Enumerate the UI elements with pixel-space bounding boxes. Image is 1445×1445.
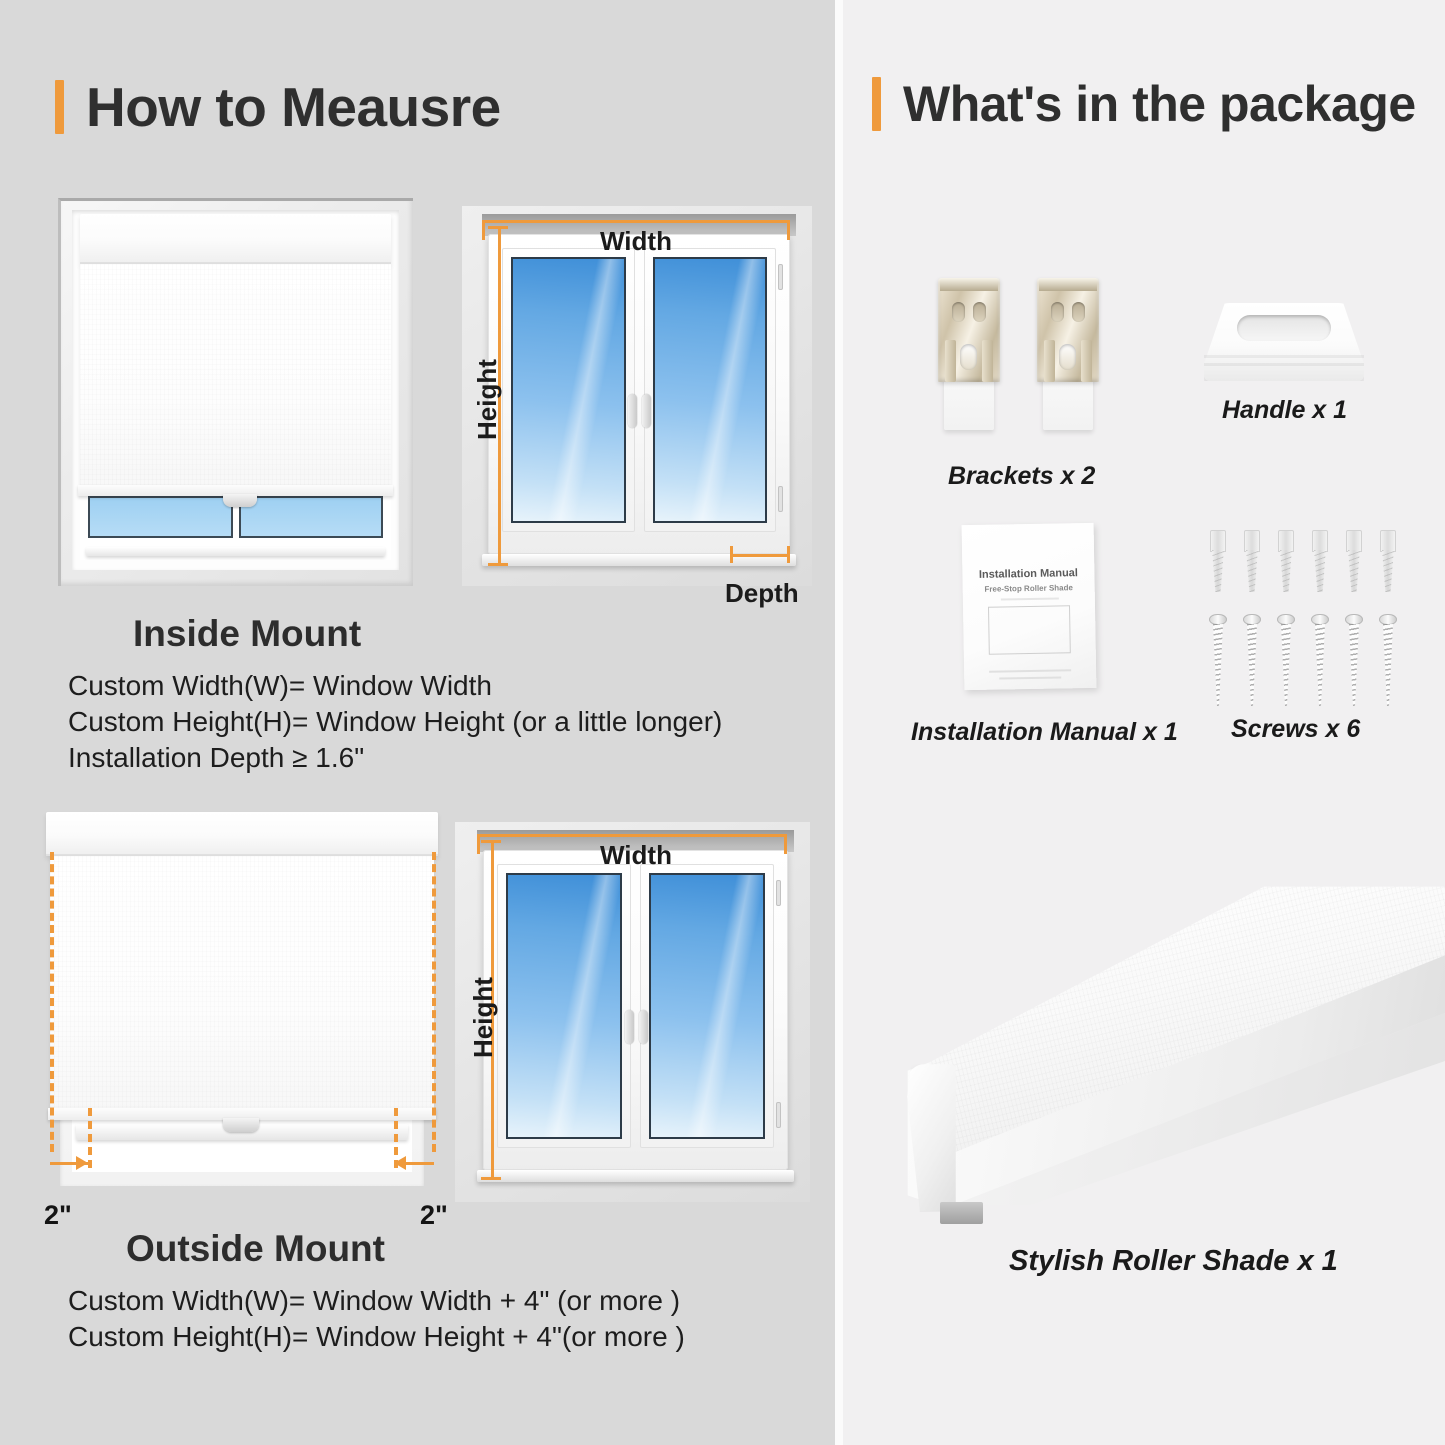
window-frame [488, 234, 790, 554]
anchor-body [1280, 550, 1292, 592]
screw-shaft [1383, 624, 1393, 706]
bracket-bar-left [1044, 340, 1055, 382]
window-edge-guide-left [88, 1108, 92, 1168]
glass-glare [539, 257, 625, 523]
manual-cover-diagram [988, 605, 1071, 654]
window-sash-right [640, 864, 774, 1148]
inside-mount-shade-illustration [58, 198, 413, 586]
anchor-head [1346, 530, 1362, 552]
roller-shade-label: Stylish Roller Shade x 1 [1009, 1245, 1338, 1278]
depth-measure-cap-right [787, 546, 790, 563]
installation-manual-item: Installation Manual Free-Stop Roller Sha… [962, 523, 1097, 690]
screws-label: Screws x 6 [1231, 715, 1360, 744]
bracket-bar-left [945, 340, 956, 382]
bracket-slot-b [973, 302, 986, 322]
anchor-head [1278, 530, 1294, 552]
shade-pull-handle[interactable] [223, 1118, 259, 1132]
window-glass-left [511, 257, 626, 523]
roller-shade-product [905, 885, 1445, 1205]
screw-head [1243, 614, 1261, 625]
width-measure-cap-right [787, 220, 790, 240]
overhang-label-right: 2" [420, 1200, 448, 1231]
glass-glare [678, 873, 765, 1139]
screw-shaft [1213, 624, 1223, 706]
width-label-inside: Width [600, 226, 672, 257]
handle-ridge-1 [1204, 355, 1364, 358]
anchor-body [1382, 550, 1394, 592]
shade-fabric [80, 264, 391, 490]
overhang-guide-right [432, 852, 436, 1152]
accent-bar-icon [872, 77, 881, 131]
window-pane-left [88, 496, 233, 538]
outside-mount-measure-diagram [455, 822, 810, 1202]
overhang-guide-left [50, 852, 54, 1152]
anchor-body [1348, 550, 1360, 592]
window-glass-right [649, 873, 765, 1139]
width-measure-cap-left [482, 220, 485, 240]
width-label-outside: Width [600, 840, 672, 871]
handle-item [1204, 303, 1364, 381]
inside-spec-depth: Installation Depth ≥ 1.6" [68, 742, 364, 774]
screw-head [1311, 614, 1329, 625]
wall-anchor-6 [1378, 530, 1398, 592]
outside-spec-width: Custom Width(W)= Window Width + 4" (or m… [68, 1285, 680, 1317]
depth-measure-cap-left [730, 546, 733, 563]
window-sill [86, 547, 385, 556]
manual-rule-2 [989, 669, 1071, 672]
glass-glare [681, 257, 767, 523]
window-pane-right [239, 496, 384, 538]
window-sash-right [644, 248, 777, 532]
outside-mount-shade-illustration [38, 812, 446, 1194]
whats-in-package-heading: What's in the package [872, 75, 1416, 133]
height-measure-cap-bottom [488, 563, 508, 566]
screw-head [1209, 614, 1227, 625]
anchor-body [1212, 550, 1224, 592]
glass-glare [535, 873, 622, 1139]
width-measure-line [482, 220, 790, 223]
inside-spec-height: Custom Height(H)= Window Height (or a li… [68, 706, 722, 738]
wall-anchor-4 [1310, 530, 1330, 592]
width-measure-line [477, 834, 787, 837]
window-hinge-top [776, 880, 781, 906]
width-measure-cap-right [784, 834, 787, 854]
handle-ridge-2 [1204, 363, 1364, 366]
wall-anchor-5 [1344, 530, 1364, 592]
bracket-screw-hole [1059, 344, 1076, 370]
bracket-lip [940, 278, 998, 291]
bracket-slot-a [1051, 302, 1064, 322]
wall-anchor-2 [1242, 530, 1262, 592]
bracket-screw-hole [960, 344, 977, 370]
shade-cassette [80, 214, 391, 264]
shade-pull-handle[interactable] [223, 494, 257, 507]
bracket-slot-a [952, 302, 965, 322]
screw-head [1345, 614, 1363, 625]
screw-6 [1379, 614, 1397, 706]
manual-rule-1 [1001, 597, 1059, 600]
anchor-head [1380, 530, 1396, 552]
outside-mount-title: Outside Mount [126, 1228, 385, 1270]
inside-spec-width: Custom Width(W)= Window Width [68, 670, 492, 702]
anchor-head [1210, 530, 1226, 552]
handle-grip-slot [1237, 315, 1331, 341]
window-sash-left [497, 864, 631, 1148]
window-hinge-bottom [776, 1102, 781, 1128]
inside-mount-measure-diagram [462, 206, 812, 586]
brackets-label: Brackets x 2 [948, 462, 1095, 491]
width-measure-cap-left [477, 834, 480, 854]
screw-shaft [1281, 624, 1291, 706]
bracket-slot-b [1072, 302, 1085, 322]
manual-cover-title: Installation Manual [962, 567, 1094, 581]
screw-shaft [1315, 624, 1325, 706]
roller-shade-bottom-edge [940, 1202, 983, 1224]
handle-label: Handle x 1 [1222, 396, 1347, 425]
outside-spec-height: Custom Height(H)= Window Height + 4"(or … [68, 1321, 685, 1353]
screw-3 [1277, 614, 1295, 706]
window-sashes [502, 248, 776, 532]
anchor-head [1312, 530, 1328, 552]
window-handle-right[interactable] [639, 1010, 648, 1044]
window-handle-left[interactable] [625, 1010, 634, 1044]
depth-measure-line [730, 554, 790, 557]
height-measure-cap-bottom [481, 1177, 501, 1180]
overhang-arrow-right [394, 1156, 406, 1170]
bracket-lip [1039, 278, 1097, 291]
window-hinge-bottom [778, 486, 783, 512]
window-sash-left [502, 248, 635, 532]
manual-rule-3 [999, 676, 1061, 679]
window-sill [477, 1170, 794, 1182]
window-handle-right[interactable] [642, 394, 651, 428]
accent-bar-icon [55, 80, 64, 134]
infographic-page: How to Meausre [0, 0, 1445, 1445]
window-frame [483, 850, 788, 1170]
window-sashes [497, 864, 774, 1148]
window-glass-right [653, 257, 768, 523]
anchor-body [1246, 550, 1258, 592]
heading-left-text: How to Meausre [86, 75, 501, 139]
wall-anchor-1 [1208, 530, 1228, 592]
height-measure-cap-top [481, 840, 501, 843]
shade-cassette [46, 812, 438, 856]
shade-fabric [50, 856, 434, 1112]
height-measure-cap-top [488, 226, 508, 229]
manual-cover-subtitle: Free-Stop Roller Shade [963, 583, 1095, 594]
screw-4 [1311, 614, 1329, 706]
window-hinge-top [778, 264, 783, 290]
screw-head [1277, 614, 1295, 625]
wall-anchor-3 [1276, 530, 1296, 592]
installation-manual-label: Installation Manual x 1 [911, 718, 1178, 747]
bracket-bar-right [1081, 340, 1092, 382]
anchor-head [1244, 530, 1260, 552]
screw-head [1379, 614, 1397, 625]
window-glass-left [506, 873, 622, 1139]
screw-shaft [1349, 624, 1359, 706]
panel-divider [835, 0, 843, 1445]
screw-2 [1243, 614, 1261, 706]
window-handle-left[interactable] [628, 394, 637, 428]
depth-label-inside: Depth [725, 578, 799, 609]
height-label-inside: Height [472, 359, 503, 440]
overhang-arrow-left [76, 1156, 88, 1170]
bracket-item-1 [938, 278, 1000, 430]
screw-5 [1345, 614, 1363, 706]
inside-mount-title: Inside Mount [133, 613, 361, 655]
how-to-measure-heading: How to Meausre [55, 75, 501, 139]
height-label-outside: Height [468, 977, 499, 1058]
anchor-body [1314, 550, 1326, 592]
screw-1 [1209, 614, 1227, 706]
heading-right-text: What's in the package [903, 75, 1416, 133]
bracket-bar-right [982, 340, 993, 382]
bracket-item-2 [1037, 278, 1099, 430]
overhang-label-left: 2" [44, 1200, 72, 1231]
screw-shaft [1247, 624, 1257, 706]
